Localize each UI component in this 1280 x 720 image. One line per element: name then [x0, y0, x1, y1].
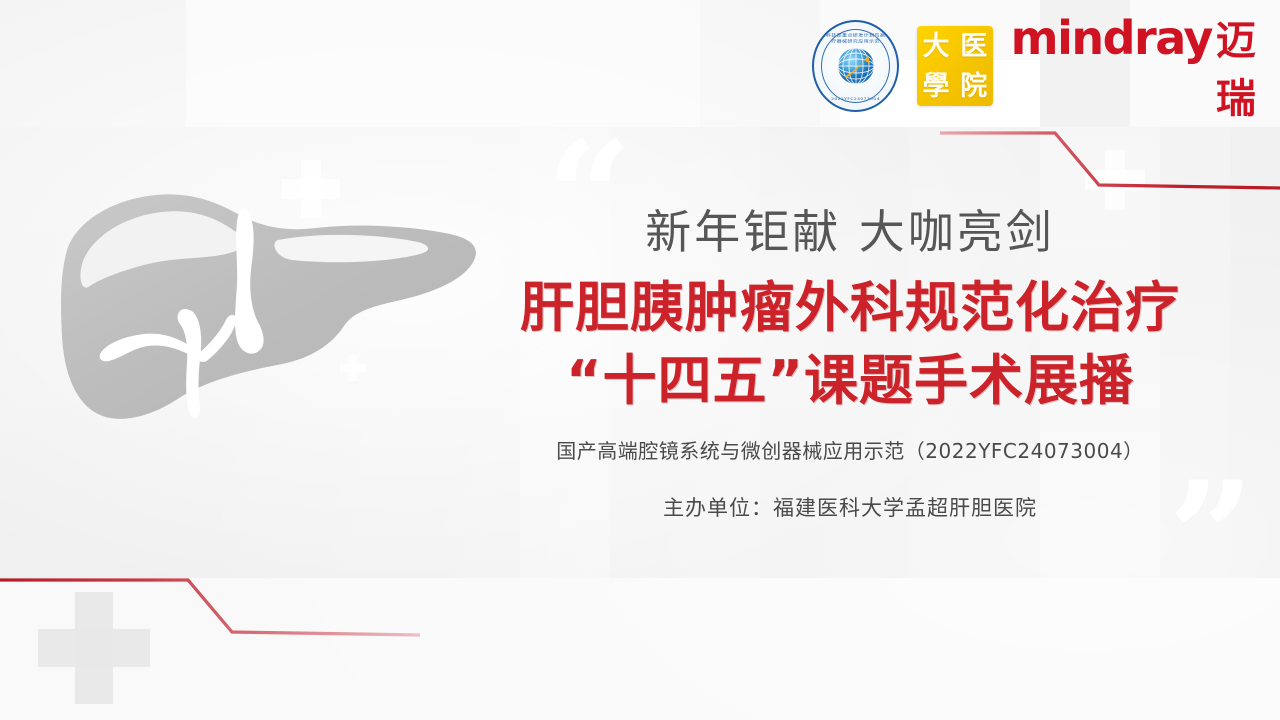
- page-title: 肝胆胰肿瘤外科规范化治疗: [470, 273, 1230, 342]
- background-panel-2: [186, 0, 486, 127]
- poster-content: 新年钜献 大咖亮剑 肝胆胰肿瘤外科规范化治疗 “十四五”课题手术展播 国产高端腔…: [470, 205, 1230, 522]
- kicker-line: 新年钜献 大咖亮剑: [470, 205, 1230, 259]
- background-band-bottom: [0, 578, 1280, 720]
- globe-arrow-icon: [835, 45, 877, 87]
- background-panel-1: [0, 0, 186, 127]
- liver-anatomy-illustration: [20, 168, 490, 460]
- medical-cross-icon: [1085, 150, 1145, 210]
- host-line: 主办单位：福建医科大学孟超肝胆医院: [470, 492, 1230, 522]
- academy-char-1: 大: [923, 33, 950, 60]
- mindray-wordmark-en: mindray: [1011, 11, 1212, 65]
- logo-row: 国家科技部重点研发计划与高端医疗器械研究应用示范: [812, 18, 1280, 114]
- academy-char-2: 医: [960, 33, 987, 60]
- medical-academy-logo: 大 医 學 院: [917, 26, 993, 106]
- academy-char-3: 學: [923, 73, 950, 100]
- conference-poster-slide: 国家科技部重点研发计划与高端医疗器械研究应用示范: [0, 0, 1280, 720]
- academy-char-4: 院: [960, 73, 987, 100]
- mindray-wordmark-cn: 迈瑞: [1216, 8, 1280, 124]
- background-panel-3: [700, 0, 820, 127]
- mindray-logo: mindray 迈瑞: [1011, 8, 1280, 124]
- project-line: 国产高端腔镜系统与微创器械应用示范（2022YFC24073004）: [470, 435, 1230, 464]
- medical-cross-icon: [38, 592, 150, 704]
- emblem-text-bottom: 2022YFC24073004: [814, 97, 897, 101]
- emblem-text-top: 国家科技部重点研发计划与高端医疗器械研究应用示范: [814, 32, 897, 44]
- hospital-emblem: 国家科技部重点研发计划与高端医疗器械研究应用示范: [812, 20, 899, 112]
- page-subtitle: “十四五”课题手术展播: [470, 346, 1230, 415]
